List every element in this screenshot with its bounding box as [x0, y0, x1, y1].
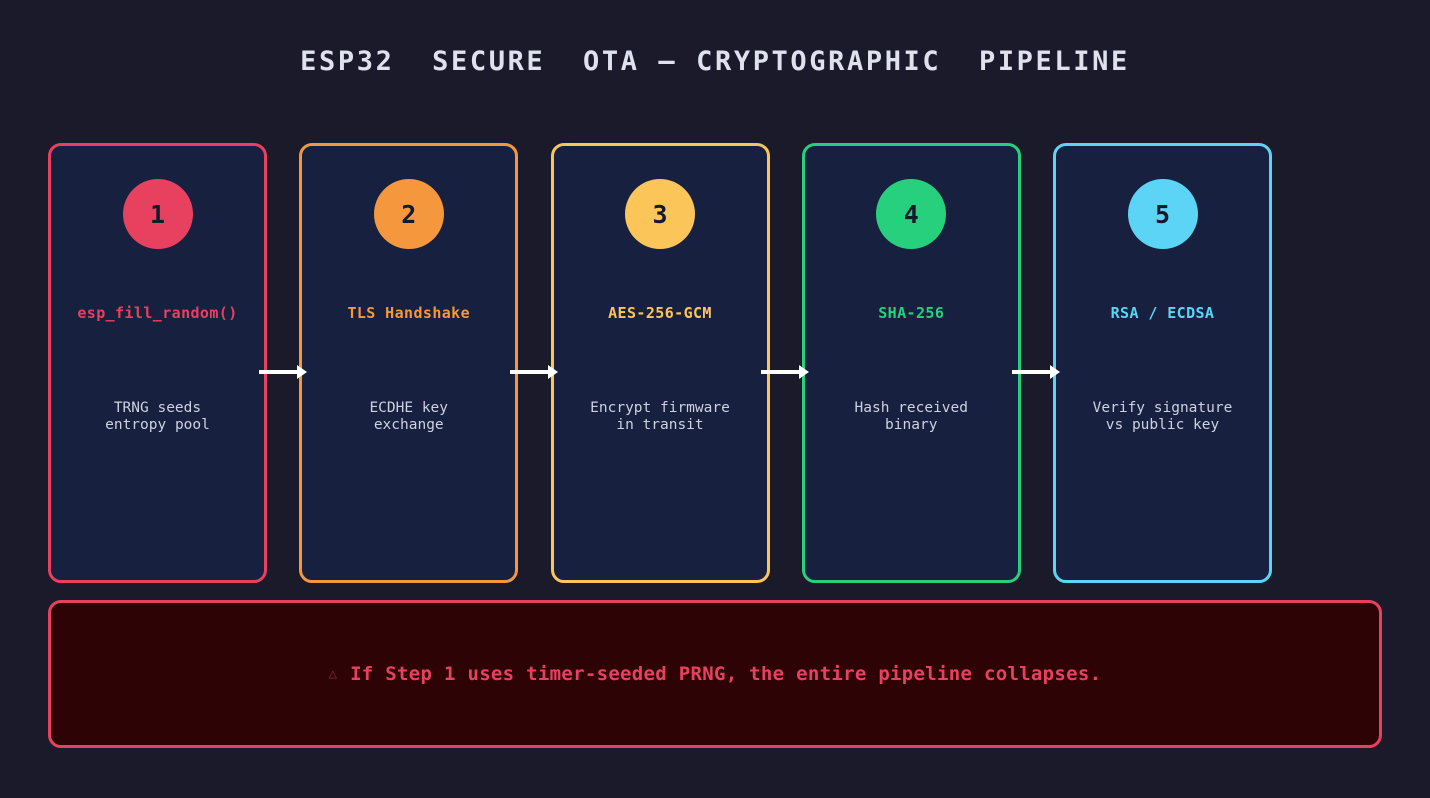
- pipeline-step-card-1[interactable]: 1 esp_fill_random() TRNG seeds entropy p…: [48, 143, 267, 583]
- step-label-5: RSA / ECDSA: [1111, 304, 1215, 322]
- step-description-5: Verify signature vs public key: [1093, 400, 1233, 434]
- step-description-4: Hash received binary: [855, 400, 969, 434]
- step-description-2: ECDHE key exchange: [369, 400, 448, 434]
- pipeline-steps-row: 1 esp_fill_random() TRNG seeds entropy p…: [48, 143, 1272, 583]
- step-number-badge-2: 2: [374, 179, 444, 249]
- step-description-3: Encrypt firmware in transit: [590, 400, 730, 434]
- step-label-1: esp_fill_random(): [77, 304, 237, 322]
- step-number-badge-5: 5: [1128, 179, 1198, 249]
- step-number-badge-1: 1: [123, 179, 193, 249]
- step-number-badge-3: 3: [625, 179, 695, 249]
- step-label-4: SHA-256: [878, 304, 944, 322]
- pipeline-step-card-3[interactable]: 3 AES-256-GCM Encrypt firmware in transi…: [551, 143, 770, 583]
- warning-banner-text: If Step 1 uses timer-seeded PRNG, the en…: [350, 663, 1101, 685]
- pipeline-step-card-5[interactable]: 5 RSA / ECDSA Verify signature vs public…: [1053, 143, 1272, 583]
- step-label-2: TLS Handshake: [347, 304, 470, 322]
- pipeline-step-card-4[interactable]: 4 SHA-256 Hash received binary: [802, 143, 1021, 583]
- page-title: ESP32 SECURE OTA — CRYPTOGRAPHIC PIPELIN…: [0, 46, 1430, 77]
- warning-banner-content: △ If Step 1 uses timer-seeded PRNG, the …: [329, 663, 1102, 685]
- step-number-badge-4: 4: [876, 179, 946, 249]
- warning-banner: △ If Step 1 uses timer-seeded PRNG, the …: [48, 600, 1382, 748]
- step-description-1: TRNG seeds entropy pool: [105, 400, 210, 434]
- pipeline-step-card-2[interactable]: 2 TLS Handshake ECDHE key exchange: [299, 143, 518, 583]
- warning-triangle-icon: △: [329, 667, 337, 681]
- pipeline-diagram-page: ESP32 SECURE OTA — CRYPTOGRAPHIC PIPELIN…: [0, 0, 1430, 798]
- step-label-3: AES-256-GCM: [608, 304, 712, 322]
